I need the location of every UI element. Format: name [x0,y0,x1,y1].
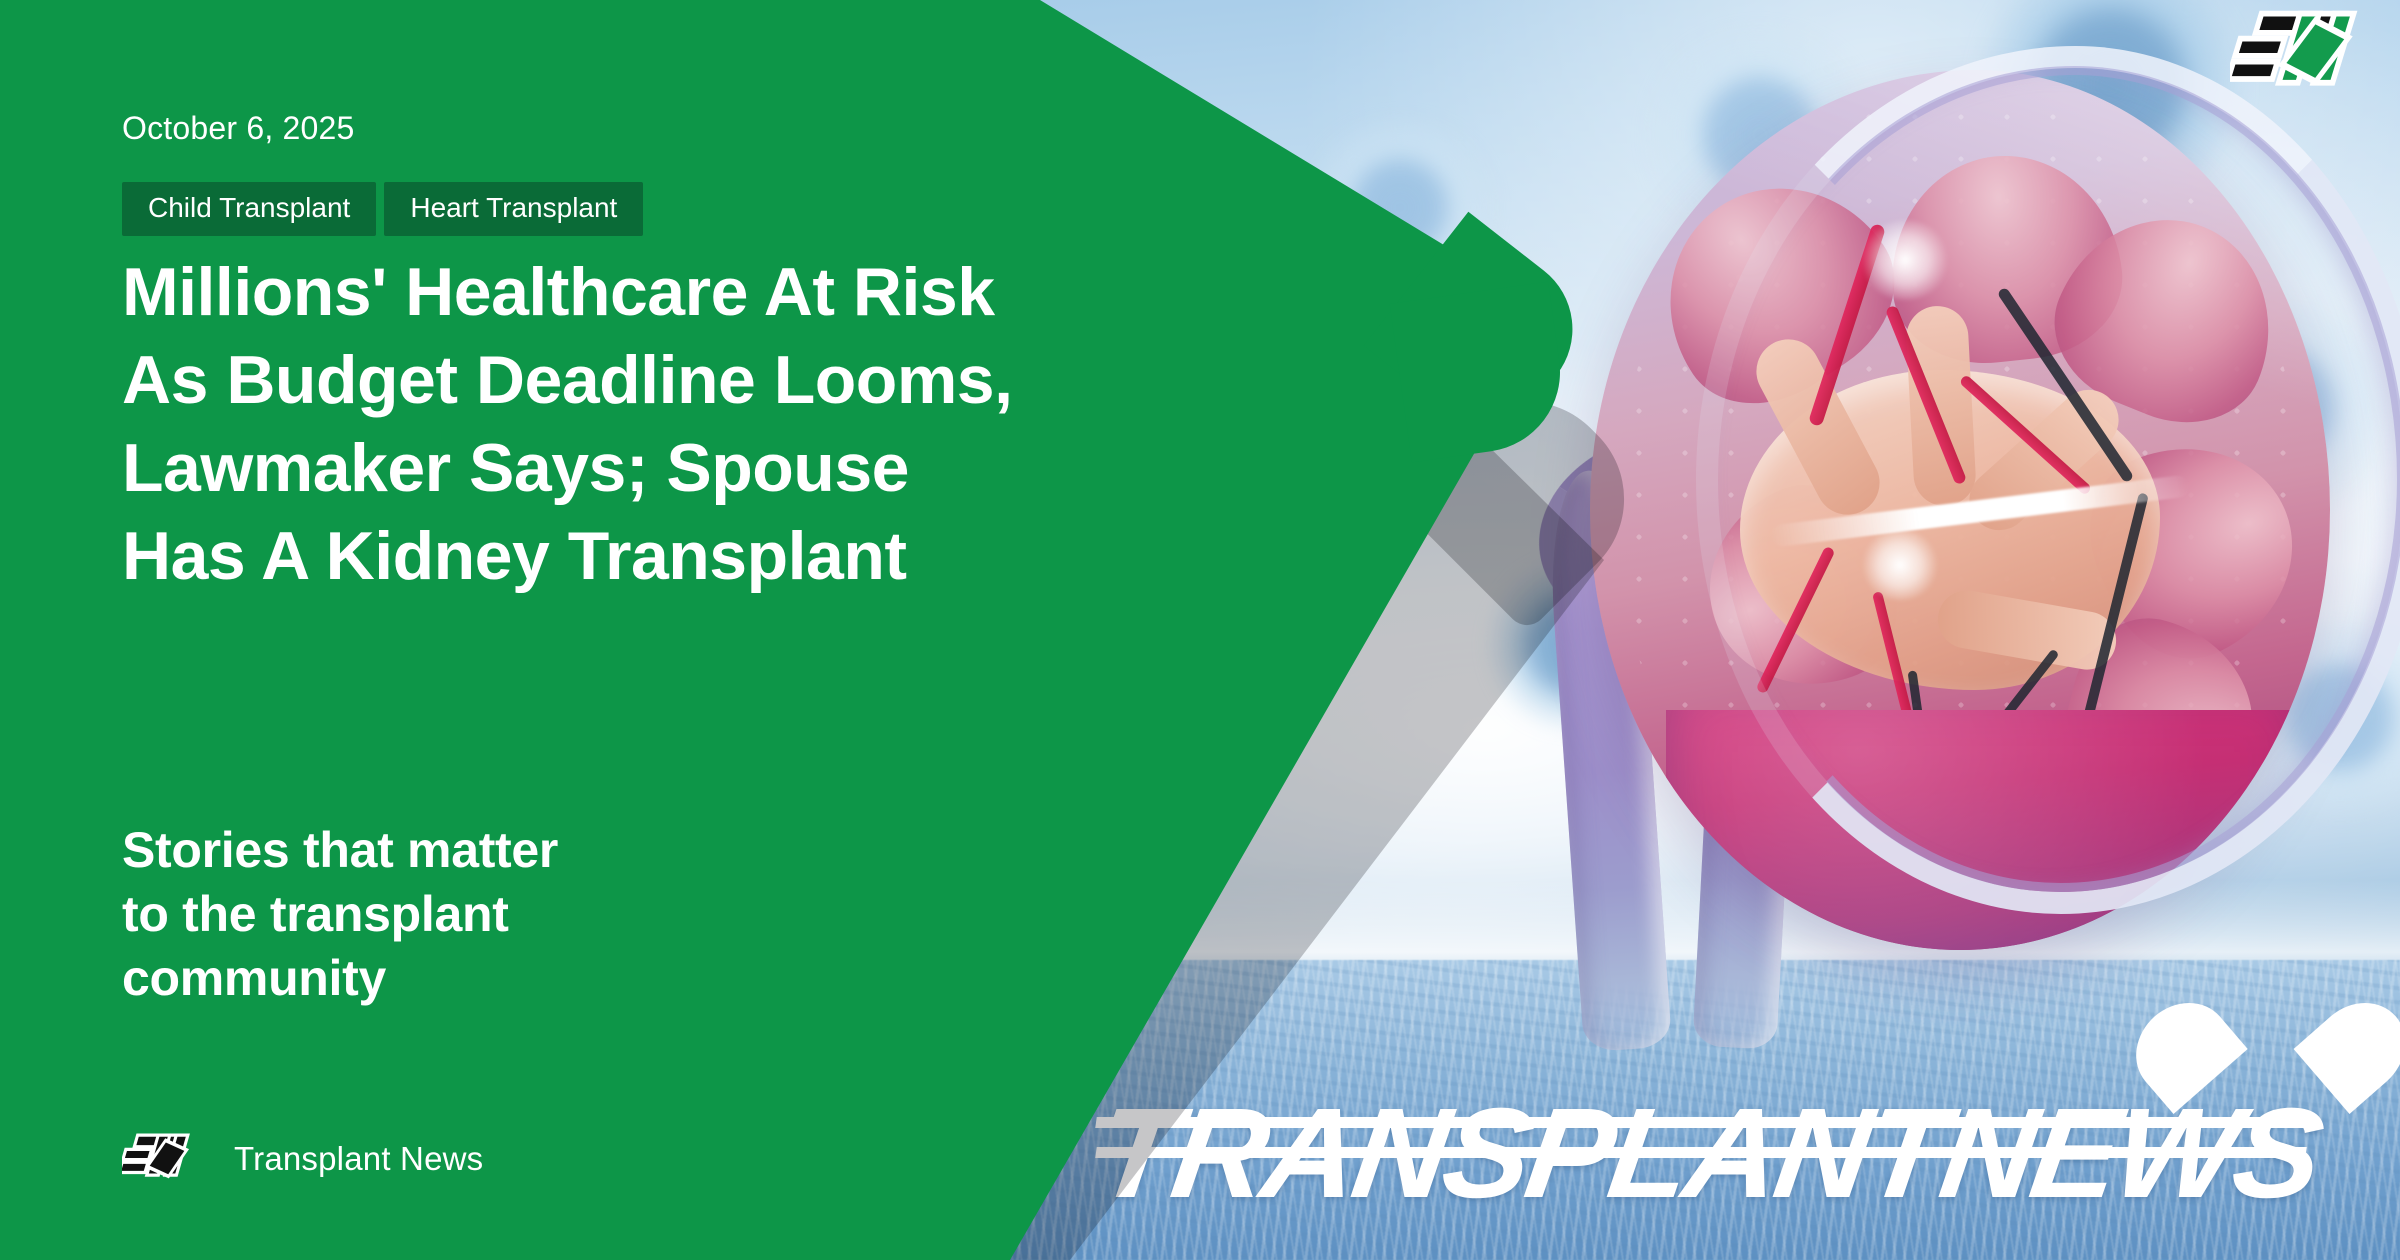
tagline: Stories that matter to the transplant co… [122,818,558,1010]
renal-calyx [1905,305,1977,508]
kidney-body [1590,70,2330,950]
tag-list: Child Transplant Heart Transplant [122,182,643,236]
tag-child-transplant[interactable]: Child Transplant [122,182,376,236]
headline-line-4: Has A Kidney Transplant [122,522,1362,590]
kidney-illustration [1520,40,2400,1160]
headline-line-2: As Budget Deadline Looms, [122,346,1362,414]
content-column: October 6, 2025 Child Transplant Heart T… [122,0,1382,1260]
publish-date: October 6, 2025 [122,110,354,147]
tag-heart-transplant[interactable]: Heart Transplant [384,182,643,236]
headline-line-1: Millions' Healthcare At Risk [122,258,1362,326]
brand-name: Transplant News [234,1140,483,1178]
kidney-lower-lobe [1666,710,2306,950]
tagline-line-3: community [122,946,558,1010]
news-card: TRANSPLANTNEWS October 6, 2025 Child Tra… [0,0,2400,1260]
tn-monogram-icon [122,1130,200,1188]
tn-monogram-icon [2230,6,2386,102]
headline: Millions' Healthcare At Risk As Budget D… [122,258,1362,610]
brand-footer: Transplant News [122,1130,483,1188]
tagline-line-1: Stories that matter [122,818,558,882]
tagline-line-2: to the transplant [122,882,558,946]
specular-highlight [1860,530,1940,600]
headline-line-3: Lawmaker Says; Spouse [122,434,1362,502]
specular-highlight [1860,220,1950,300]
